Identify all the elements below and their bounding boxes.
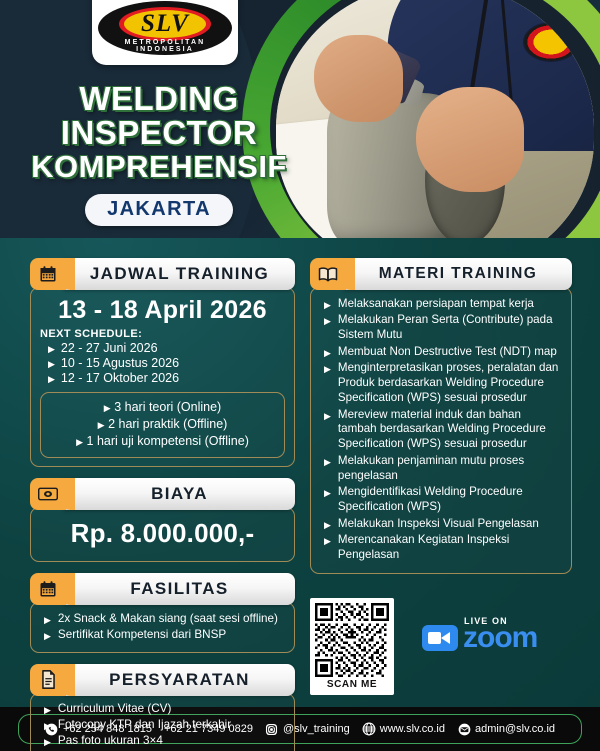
list-item: ▶ Melakukan Inspeksi Visual Pengelasan: [320, 517, 562, 532]
schedule-format-item: ▶ 2 hari praktik (Offline): [47, 416, 278, 433]
panel-materials: MATERI TRAINING ▶ Melaksanakan persiapan…: [310, 258, 572, 574]
calendar-icon: [30, 573, 66, 605]
schedule-main-date: 13 - 18 April 2026: [40, 296, 285, 325]
materials-body: ▶ Melaksanakan persiapan tempat kerja ▶ …: [310, 287, 572, 574]
cost-body: Rp. 8.000.000,-: [30, 507, 295, 562]
document-icon: [30, 664, 66, 696]
list-item: ▶ Pas foto ukuran 3×4: [40, 734, 285, 749]
bullet-triangle-icon: ▶: [48, 360, 55, 369]
facilities-item-text: Sertifikat Kompetensi dari BNSP: [58, 628, 226, 643]
list-item: ▶ Mengidentifikasi Welding Procedure Spe…: [320, 485, 562, 515]
list-item: ▶ Merencanakan Kegiatan Inspeksi Pengela…: [320, 533, 562, 563]
zoom-wordmark: zoom: [463, 623, 537, 653]
logo-subtitle: METROPOLITAN INDONESIA: [98, 39, 232, 53]
materials-item-text: Menginterpretasikan proses, peralatan da…: [338, 361, 562, 405]
bullet-triangle-icon: ▶: [48, 375, 55, 384]
schedule-format-item: ▶ 1 hari uji kompetensi (Offline): [47, 433, 278, 450]
book-icon: [310, 258, 346, 290]
qr-card[interactable]: SCAN ME: [310, 598, 394, 695]
materials-item-text: Mengidentifikasi Welding Procedure Speci…: [338, 485, 562, 515]
banknote-icon: [30, 478, 66, 510]
qr-code-icon[interactable]: [315, 603, 389, 677]
list-item: ▶ 2x Snack & Makan siang (saat sesi offl…: [40, 612, 285, 627]
schedule-title: JADWAL TRAINING: [64, 258, 295, 290]
cost-header: BIAYA: [30, 478, 295, 510]
qr-zoom-row: SCAN ME LIVE ON zoom: [310, 598, 580, 706]
panel-requirements: PERSYARATAN ▶ Curriculum Vitae (CV) ▶ Fo…: [30, 664, 295, 751]
materials-item-text: Melakukan penjaminan mutu proses pengela…: [338, 454, 562, 484]
bullet-triangle-icon: ▶: [324, 458, 331, 467]
poster-root: SLV METROPOLITAN INDONESIA WELDING INSPE…: [0, 0, 600, 751]
schedule-format-item: ▶ 3 hari teori (Online): [47, 399, 278, 416]
requirements-body: ▶ Curriculum Vitae (CV) ▶ Fotocopy KTP d…: [30, 693, 295, 751]
bullet-triangle-icon: ▶: [324, 412, 331, 421]
bullet-triangle-icon: ▶: [324, 301, 331, 310]
schedule-next-item: ▶ 12 - 17 Oktober 2026: [48, 371, 285, 385]
bullet-triangle-icon: ▶: [44, 722, 51, 731]
list-item: ▶ Melaksanakan persiapan tempat kerja: [320, 297, 562, 312]
bullet-triangle-icon: ▶: [324, 537, 331, 546]
bullet-triangle-icon: ▶: [324, 521, 331, 530]
bullet-triangle-icon: ▶: [104, 403, 111, 413]
schedule-next-date: 10 - 15 Agustus 2026: [61, 356, 179, 370]
footer-email-text: admin@slv.co.id: [475, 723, 555, 735]
schedule-format-text: 2 hari praktik (Offline): [108, 417, 227, 431]
hero-photo: [276, 0, 594, 252]
materials-list: ▶ Melaksanakan persiapan tempat kerja ▶ …: [320, 297, 562, 563]
bullet-triangle-icon: ▶: [44, 632, 51, 641]
materials-item-text: Melakukan Inspeksi Visual Pengelasan: [338, 517, 539, 532]
bullet-triangle-icon: ▶: [324, 317, 331, 326]
footer-website[interactable]: www.slv.co.id: [362, 722, 445, 736]
bullet-triangle-icon: ▶: [48, 345, 55, 354]
schedule-format-box: ▶ 3 hari teori (Online) ▶ 2 hari praktik…: [40, 392, 285, 458]
panel-facilities: FASILITAS ▶ 2x Snack & Makan siang (saat…: [30, 573, 295, 653]
brand-logo: SLV METROPOLITAN INDONESIA: [92, 0, 238, 65]
materials-item-text: Merencanakan Kegiatan Inspeksi Pengelasa…: [338, 533, 562, 563]
materials-item-text: Mereview material induk dan bahan tambah…: [338, 408, 562, 452]
list-item: ▶ Mereview material induk dan bahan tamb…: [320, 408, 562, 452]
bullet-triangle-icon: ▶: [76, 437, 83, 447]
schedule-header: JADWAL TRAINING: [30, 258, 295, 290]
facilities-item-text: 2x Snack & Makan siang (saat sesi offlin…: [58, 612, 278, 627]
title-line-1: WELDING: [0, 82, 318, 116]
schedule-format-text: 3 hari teori (Online): [114, 400, 221, 414]
materials-header: MATERI TRAINING: [310, 258, 572, 290]
facilities-title: FASILITAS: [64, 573, 295, 605]
list-item: ▶ Sertifikat Kompetensi dari BNSP: [40, 628, 285, 643]
bullet-triangle-icon: ▶: [44, 706, 51, 715]
zoom-branding: LIVE ON zoom: [422, 598, 537, 653]
list-item: ▶ Menginterpretasikan proses, peralatan …: [320, 361, 562, 405]
schedule-format-text: 1 hari uji kompetensi (Offline): [87, 434, 249, 448]
photo-hand-left: [314, 35, 403, 123]
location-badge: JAKARTA: [85, 194, 233, 226]
list-item: ▶ Melakukan penjaminan mutu proses penge…: [320, 454, 562, 484]
panel-cost: BIAYA Rp. 8.000.000,-: [30, 478, 295, 562]
schedule-next-item: ▶ 10 - 15 Agustus 2026: [48, 356, 285, 370]
materials-item-text: Membuat Non Destructive Test (NDT) map: [338, 345, 557, 360]
footer-email[interactable]: admin@slv.co.id: [457, 722, 555, 736]
requirements-title: PERSYARATAN: [64, 664, 295, 696]
schedule-body: 13 - 18 April 2026 NEXT SCHEDULE: ▶ 22 -…: [30, 287, 295, 467]
photo-hand-right: [416, 87, 524, 192]
materials-item-text: Melakukan Peran Serta (Contribute) pada …: [338, 313, 562, 343]
globe-icon: [362, 722, 376, 736]
left-column: JADWAL TRAINING 13 - 18 April 2026 NEXT …: [30, 258, 295, 751]
bullet-triangle-icon: ▶: [98, 420, 105, 430]
schedule-next-date: 22 - 27 Juni 2026: [61, 341, 158, 355]
title-line-2: INSPECTOR: [0, 116, 318, 150]
facilities-body: ▶ 2x Snack & Makan siang (saat sesi offl…: [30, 602, 295, 653]
list-item: ▶ Fotocopy KTP dan Ijazah terkahir: [40, 718, 285, 733]
requirements-item-text: Pas foto ukuran 3×4: [58, 734, 163, 749]
bullet-triangle-icon: ▶: [44, 738, 51, 747]
list-item: ▶ Curriculum Vitae (CV): [40, 702, 285, 717]
schedule-next-date: 12 - 17 Oktober 2026: [61, 371, 179, 385]
cost-title: BIAYA: [64, 478, 295, 510]
bullet-triangle-icon: ▶: [324, 349, 331, 358]
panel-schedule: JADWAL TRAINING 13 - 18 April 2026 NEXT …: [30, 258, 295, 467]
bullet-triangle-icon: ▶: [324, 489, 331, 498]
right-column: MATERI TRAINING ▶ Melaksanakan persiapan…: [310, 258, 572, 585]
hero-title-block: WELDING INSPECTOR KOMPREHENSIF JAKARTA: [0, 82, 318, 226]
list-item: ▶ Membuat Non Destructive Test (NDT) map: [320, 345, 562, 360]
cost-amount: Rp. 8.000.000,-: [40, 515, 285, 553]
schedule-next-item: ▶ 22 - 27 Juni 2026: [48, 341, 285, 355]
calendar-icon: [30, 258, 66, 290]
materials-title: MATERI TRAINING: [344, 258, 572, 290]
schedule-next-label: NEXT SCHEDULE:: [40, 328, 285, 340]
title-line-3: KOMPREHENSIF: [0, 150, 318, 184]
video-camera-icon: [422, 625, 458, 651]
requirements-item-text: Curriculum Vitae (CV): [58, 702, 171, 717]
list-item: ▶ Melakukan Peran Serta (Contribute) pad…: [320, 313, 562, 343]
qr-label: SCAN ME: [315, 677, 389, 693]
facilities-header: FASILITAS: [30, 573, 295, 605]
requirements-list: ▶ Curriculum Vitae (CV) ▶ Fotocopy KTP d…: [40, 702, 285, 751]
logo-text: SLV: [98, 10, 232, 38]
hero-section: SLV METROPOLITAN INDONESIA WELDING INSPE…: [0, 0, 600, 252]
bullet-triangle-icon: ▶: [324, 365, 331, 374]
footer-website-text: www.slv.co.id: [380, 723, 445, 735]
photo-uniform-logo: [524, 23, 578, 61]
envelope-icon: [457, 722, 471, 736]
requirements-header: PERSYARATAN: [30, 664, 295, 696]
materials-item-text: Melaksanakan persiapan tempat kerja: [338, 297, 534, 312]
facilities-list: ▶ 2x Snack & Makan siang (saat sesi offl…: [40, 612, 285, 643]
zoom-logo-row: zoom: [422, 623, 537, 653]
bullet-triangle-icon: ▶: [44, 616, 51, 625]
requirements-item-text: Fotocopy KTP dan Ijazah terkahir: [58, 718, 231, 733]
